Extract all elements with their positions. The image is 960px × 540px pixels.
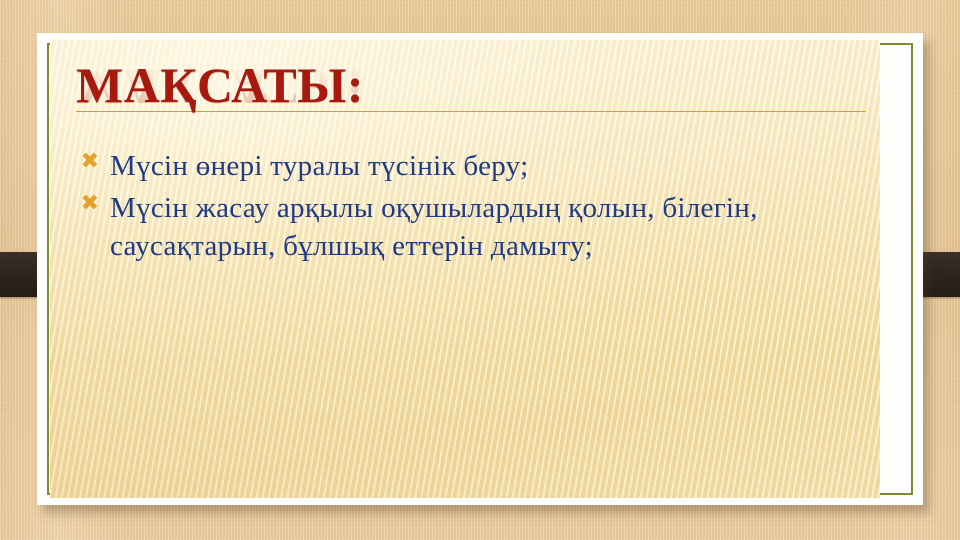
list-item-text: Мүсін жасау арқылы оқушылардың қолын, бі…	[110, 189, 838, 265]
list-item-text: Мүсін өнері туралы түсінік беру;	[110, 147, 838, 185]
slide: МАҚСАТЫ: МАҚСАТЫ: ✖ Мүсін өнері туралы т…	[0, 0, 960, 540]
list-item: ✖ Мүсін өнері туралы түсінік беру;	[78, 147, 838, 185]
bullet-cross-icon: ✖	[80, 194, 100, 214]
bullet-cross-icon: ✖	[80, 152, 100, 172]
bullet-list: ✖ Мүсін өнері туралы түсінік беру; ✖ Мүс…	[78, 147, 838, 269]
title-zone: МАҚСАТЫ: МАҚСАТЫ:	[76, 58, 866, 136]
list-item: ✖ Мүсін жасау арқылы оқушылардың қолын, …	[78, 189, 838, 265]
page-title: МАҚСАТЫ:	[76, 58, 364, 112]
